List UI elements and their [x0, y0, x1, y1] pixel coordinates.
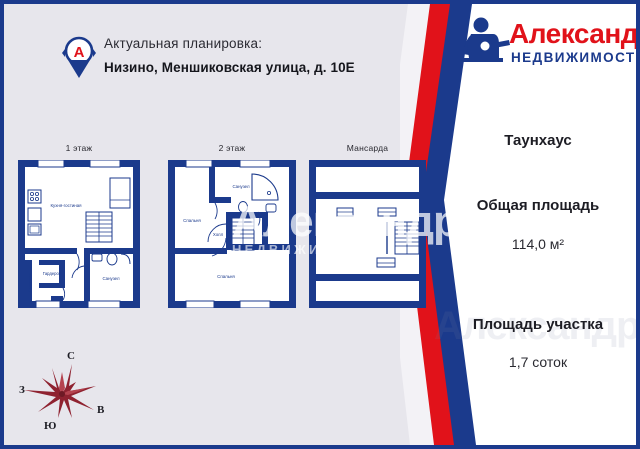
floor-plan-2-caption: 2 этаж	[168, 143, 296, 153]
total-area-value: 114,0 м²	[436, 236, 640, 252]
room-label-bedroom-1: Спальня	[183, 218, 201, 223]
floor-plan-3-caption: Мансарда	[309, 143, 426, 153]
logo-subtitle-text: НЕДВИЖИМОСТЬ	[511, 50, 640, 65]
agency-logo: Александр НЕДВИЖИМОСТЬ	[451, 12, 637, 84]
compass-north: С	[67, 350, 75, 362]
floor-plan-3: Мансарда	[309, 160, 426, 308]
svg-text:А: А	[74, 44, 85, 61]
floor-plan-2: 2 этаж	[168, 160, 296, 308]
plot-area-value: 1,7 соток	[436, 354, 640, 370]
floor-plan-listing-image: А Актуальная планировка: Низино, Меншико…	[0, 0, 640, 449]
compass-east: В	[97, 404, 104, 416]
header-address: Низино, Меншиковская улица, д. 10Е	[104, 60, 404, 75]
property-type: Таунхаус	[436, 132, 640, 149]
compass-west: З	[19, 384, 25, 396]
surveyor-figure-icon	[455, 14, 511, 81]
floor-plan-1-caption: 1 этаж	[18, 143, 140, 153]
header-subtitle: Актуальная планировка:	[104, 36, 404, 51]
total-area-label: Общая площадь	[436, 197, 640, 214]
plot-area-label: Площадь участка	[436, 316, 640, 333]
room-label-hallway: Прихожая	[27, 273, 32, 292]
header-text-block: Актуальная планировка: Низино, Меншиковс…	[104, 36, 404, 75]
room-label-kitchen-living: Кухня-гостиная	[50, 203, 82, 208]
compass-rose: С З В Ю	[18, 352, 114, 438]
room-label-bedroom-2: Спальня	[217, 274, 235, 279]
room-label-hall: Холл	[213, 232, 224, 237]
room-label-bathroom-1: Санузел	[102, 276, 120, 281]
compass-south: Ю	[44, 420, 56, 432]
logo-brand-text: Александр	[509, 18, 640, 50]
map-pin-icon: А	[62, 36, 96, 78]
floor-plan-1: 1 этаж	[18, 160, 140, 308]
room-label-wardrobe: Гардероб	[43, 271, 62, 276]
room-label-bathroom-2: Санузел	[232, 184, 250, 189]
